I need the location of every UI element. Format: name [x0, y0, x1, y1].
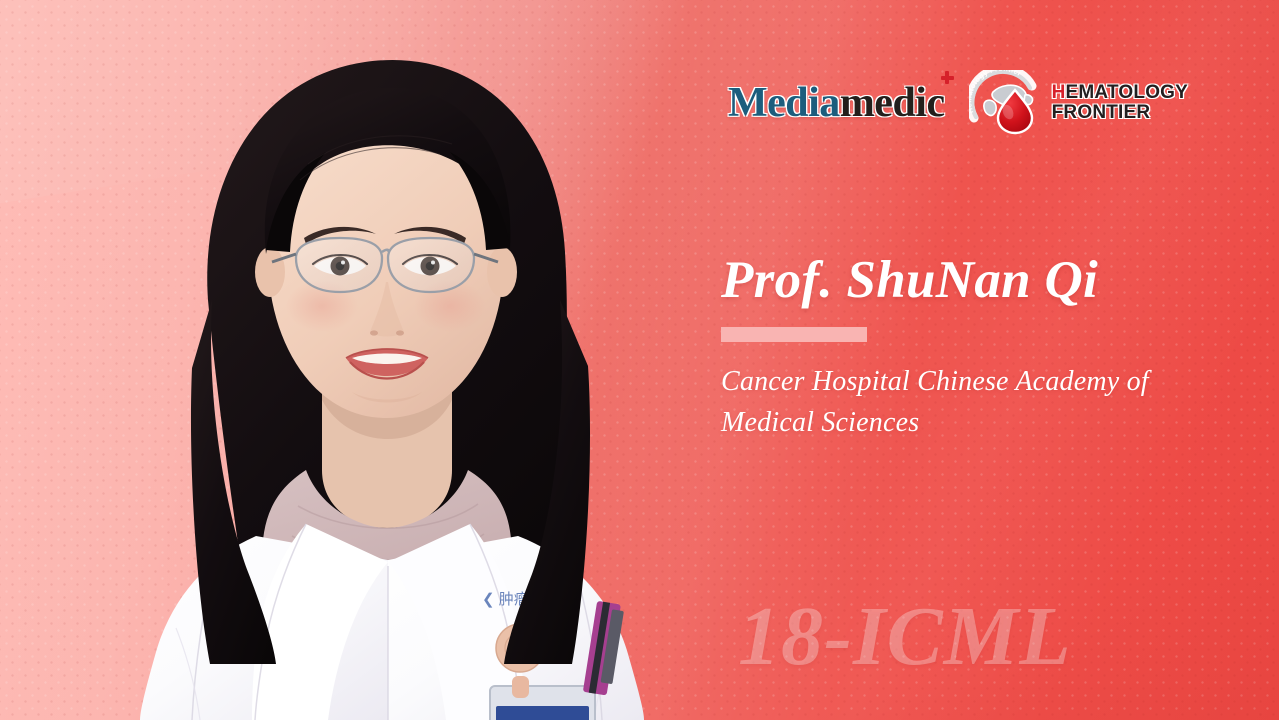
- hf-accent-letter: H: [1052, 82, 1066, 103]
- speaker-affiliation: Cancer Hospital Chinese Academy of Medic…: [721, 362, 1237, 444]
- speaker-divider-rule: [721, 327, 867, 342]
- slide-canvas: 18-ICML: [0, 0, 1279, 720]
- hematology-frontier-logo[interactable]: Hematology Frontier HEMATOLOGY FRONTIER: [969, 70, 1188, 136]
- hf-line-1: HEMATOLOGY: [1052, 83, 1188, 103]
- brand-bar: Mediamedic: [728, 72, 1188, 134]
- mediamedic-logo-secondary-text: medic: [840, 80, 945, 126]
- mediamedic-logo[interactable]: Mediamedic: [728, 82, 945, 124]
- speaker-name: Prof. ShuNan Qi: [721, 252, 1241, 309]
- speaker-info-block: Prof. ShuNan Qi Cancer Hospital Chinese …: [721, 252, 1241, 444]
- event-watermark: 18-ICML: [738, 588, 1072, 685]
- hf-line-2: FRONTIER: [1052, 103, 1188, 123]
- blood-drop-globe-icon: Hematology Frontier: [969, 70, 1045, 136]
- mediamedic-logo-secondary: medic: [840, 80, 945, 126]
- hf-line-1-rest: EMATOLOGY: [1066, 82, 1189, 103]
- hematology-frontier-wordmark: HEMATOLOGY FRONTIER: [1052, 83, 1188, 123]
- mediamedic-logo-primary: Media: [728, 80, 840, 126]
- speaker-portrait: ❮ 肿瘤医院: [60, 0, 700, 720]
